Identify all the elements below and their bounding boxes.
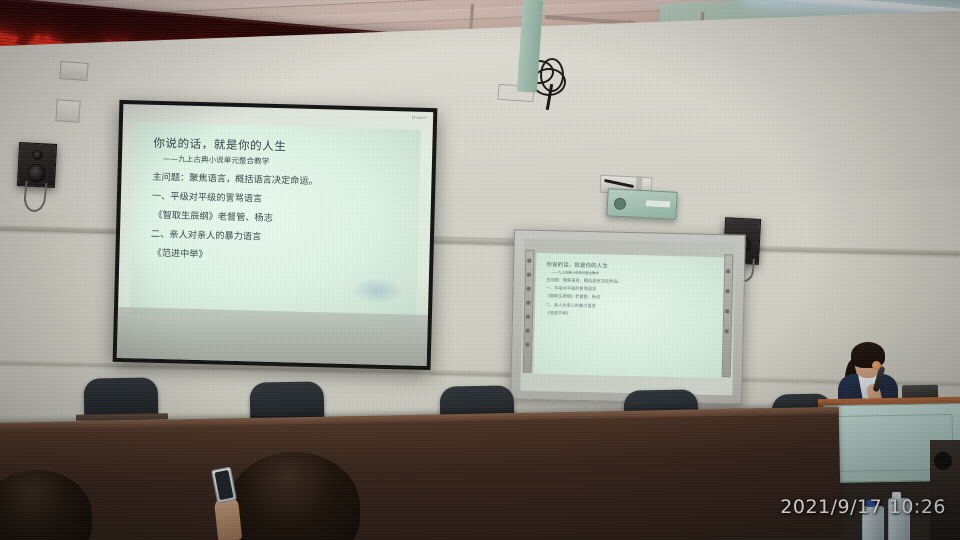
interactive-smart-board: 你说的话，就是你的人生 ——九上古典小说单元整合教学 主问题：聚焦语言，概括语言…	[510, 229, 746, 404]
slide-line-section-two: 二、亲人对亲人的暴力语言	[151, 226, 418, 247]
speaker-tweeter-icon	[32, 150, 43, 161]
wall-speaker-left	[17, 142, 57, 188]
microphone-head-icon	[872, 361, 881, 370]
phone-screen	[214, 470, 233, 500]
slide-line-main-question: 主问题：聚焦语言，概括语言决定命运。	[152, 169, 419, 190]
smart-board-surface: 你说的话，就是你的人生 ——九上古典小说单元整合教学 主问题：聚焦语言，概括语言…	[520, 239, 735, 396]
smart-board-toolbar-left[interactable]	[523, 249, 535, 373]
pulldown-projection-screen: 你说的话，就是你的人生 ——九上古典小说单元整合教学 主问题：聚焦语言，概括语言…	[113, 100, 438, 370]
camera-timestamp: 2021/9/17 10:26	[780, 496, 946, 518]
projection-screen-surface: 你说的话，就是你的人生 ——九上古典小说单元整合教学 主问题：聚焦语言，概括语言…	[117, 104, 434, 366]
wall-junction-box	[55, 99, 80, 123]
toolbar-button-icon[interactable]	[527, 286, 531, 290]
screen-lower-band	[117, 307, 428, 366]
classroom-photo-scene: 聚焦"单元要求"及课后 思考探究 中核心知识点的教学设想	[0, 0, 960, 540]
toolbar-button-icon[interactable]	[526, 328, 530, 332]
wall-junction-box	[59, 61, 88, 81]
projector-lens-icon	[614, 198, 627, 211]
slide-line-section-one: 一、平级对平级的詈骂语言	[152, 188, 419, 209]
projector-brand-plate	[646, 200, 670, 207]
slide-line-example-one: 《智取生辰纲》老督管、杨志	[153, 207, 418, 228]
screen-brand-label: Mcabel	[412, 115, 427, 120]
speaker-cone-icon	[27, 164, 46, 183]
smart-board-toolbar-right[interactable]	[722, 254, 734, 378]
toolbar-button-icon[interactable]	[726, 269, 730, 273]
toolbar-button-icon[interactable]	[527, 258, 531, 262]
smart-board-slide-content: 你说的话，就是你的人生 ——九上古典小说单元整合教学 主问题：聚焦语言，概括语言…	[545, 260, 724, 320]
projected-slide-content: 你说的话，就是你的人生 ——九上古典小说单元整合教学 主问题：聚焦语言，概括语言…	[150, 135, 420, 266]
toolbar-button-icon[interactable]	[726, 289, 730, 293]
toolbar-button-icon[interactable]	[725, 329, 729, 333]
toolbar-button-icon[interactable]	[527, 272, 531, 276]
toolbar-button-icon[interactable]	[526, 300, 530, 304]
toolbar-button-icon[interactable]	[525, 342, 529, 346]
toolbar-button-icon[interactable]	[526, 314, 530, 318]
ceiling-projector	[606, 188, 677, 220]
equipment-lens-icon	[934, 452, 952, 470]
toolbar-button-icon[interactable]	[725, 309, 729, 313]
front-panel-desk	[0, 407, 841, 540]
